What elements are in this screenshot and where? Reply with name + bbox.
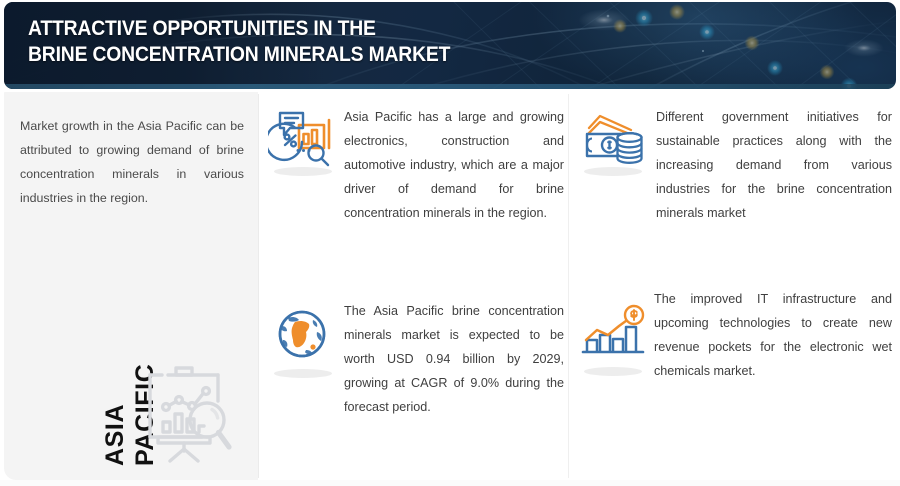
region-panel: Market growth in the Asia Pacific can be… (4, 92, 258, 480)
card-it-infrastructure: The improved IT infrastructure and upcom… (578, 286, 892, 470)
data-analysis-pie-chart-icon (268, 104, 340, 182)
column-divider-2 (568, 94, 569, 478)
presentation-board-chart-magnifier-icon (128, 354, 240, 466)
card-market-forecast: The Asia Pacific brine concentration min… (268, 298, 564, 482)
icon-shadow (584, 367, 642, 376)
card-text: The improved IT infrastructure and upcom… (654, 286, 892, 383)
column-divider-1 (258, 94, 259, 478)
header-banner: ATTRACTIVE OPPORTUNITIES IN THE BRINE CO… (4, 2, 896, 89)
content-area: Market growth in the Asia Pacific can be… (0, 90, 900, 486)
infographic-page: ATTRACTIVE OPPORTUNITIES IN THE BRINE CO… (0, 0, 900, 486)
icon-shadow (274, 167, 332, 176)
money-banknote-coins-icon (578, 104, 650, 182)
globe-africa-icon (268, 306, 340, 384)
bottom-strip (0, 480, 900, 486)
region-intro-text: Market growth in the Asia Pacific can be… (20, 114, 244, 210)
card-text: Asia Pacific has a large and growing ele… (344, 104, 564, 225)
header-bottom-accent (4, 84, 896, 89)
region-label-line-1: ASIA (100, 364, 130, 466)
growth-bar-chart-dollar-icon (578, 304, 650, 382)
page-title: ATTRACTIVE OPPORTUNITIES IN THE BRINE CO… (28, 16, 450, 67)
card-text: The Asia Pacific brine concentration min… (344, 298, 564, 419)
icon-shadow (584, 167, 642, 176)
region-label: ASIA PACIFIC (42, 276, 116, 466)
icon-shadow (274, 369, 332, 378)
card-government-initiatives: Different government initiatives for sus… (578, 104, 892, 289)
card-text: Different government initiatives for sus… (656, 104, 892, 225)
card-market-drivers: Asia Pacific has a large and growing ele… (268, 104, 564, 289)
